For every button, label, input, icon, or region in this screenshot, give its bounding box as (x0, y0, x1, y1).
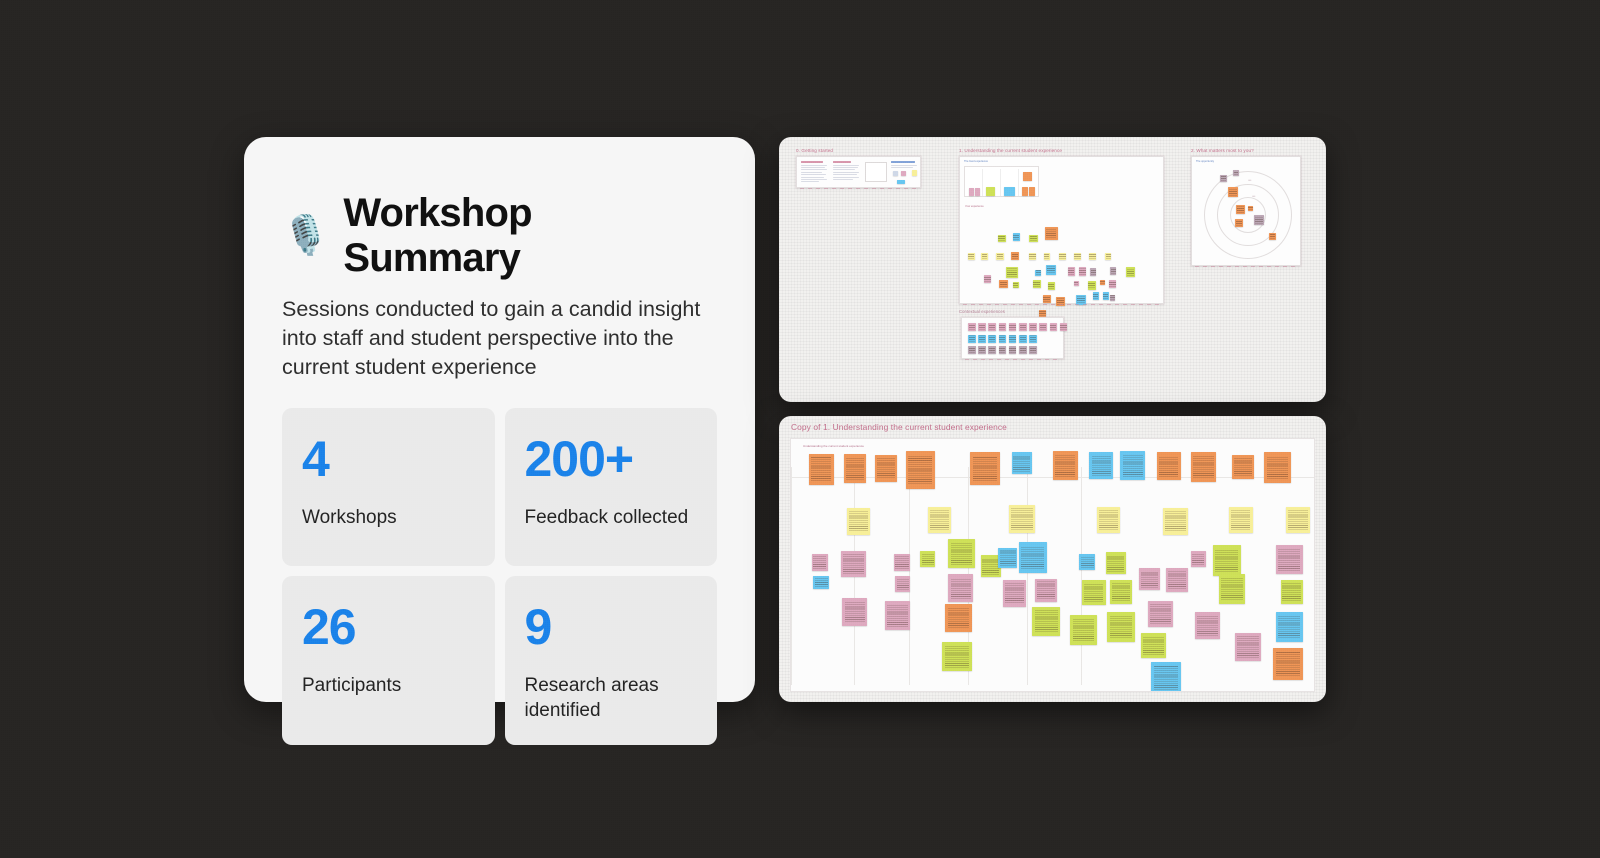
sticky-note-text (1089, 254, 1095, 259)
sticky-note[interactable] (998, 548, 1017, 569)
radar-label-1: •••• (1248, 179, 1251, 182)
contextual-note[interactable] (1029, 323, 1037, 331)
sticky-note-text (1106, 254, 1111, 259)
sticky-note-text (815, 577, 828, 587)
sticky-note[interactable] (1059, 253, 1067, 259)
sticky-note[interactable] (813, 576, 829, 589)
contextual-note[interactable] (978, 335, 986, 343)
sticky-note[interactable] (1273, 648, 1302, 680)
contextual-note[interactable] (1019, 346, 1027, 354)
sticky-note-text (973, 456, 997, 481)
sticky-note-text (1047, 266, 1055, 274)
sticky-note[interactable] (1233, 170, 1239, 176)
sticky-note[interactable] (1070, 615, 1096, 644)
contextual-note[interactable] (1009, 335, 1017, 343)
contextual-note[interactable] (1009, 346, 1017, 354)
board-detail-title: Copy of 1. Understanding the current stu… (791, 422, 1007, 432)
contextual-note[interactable] (988, 346, 996, 354)
radar-label-2: •••• (1252, 195, 1255, 198)
gs-column-1 (801, 161, 829, 184)
sticky-note[interactable] (996, 253, 1004, 259)
gs-column-2 (833, 161, 861, 181)
sticky-note[interactable] (1033, 280, 1042, 289)
sticky-note-text (930, 510, 949, 530)
sticky-note[interactable] (968, 253, 976, 259)
sticky-note-text (1011, 508, 1033, 529)
sticky-note[interactable] (1035, 270, 1041, 276)
sticky-note-text (1074, 281, 1078, 285)
sticky-note-text (997, 254, 1003, 259)
frame-what-matters-most[interactable]: The opportunity •••• •••• (1191, 156, 1301, 266)
sticky-note[interactable] (1110, 580, 1132, 604)
sticky-note-text (998, 235, 1005, 241)
sticky-note-text (895, 556, 908, 569)
sticky-note-text (1154, 666, 1178, 689)
stat-value: 200+ (525, 434, 698, 484)
sticky-note[interactable] (1093, 292, 1099, 300)
contextual-note[interactable] (968, 335, 976, 343)
sticky-note-text (1000, 281, 1007, 288)
sticky-note[interactable] (1003, 580, 1027, 606)
contextual-note-text (1060, 324, 1066, 330)
title-row: 🎙️ Workshop Summary (282, 191, 717, 281)
sticky-note-text (1048, 283, 1054, 289)
stat-card-participants: 26 Participants (282, 576, 495, 745)
board-detail-canvas[interactable]: Understanding the current student experi… (790, 438, 1315, 692)
sticky-note[interactable] (1235, 219, 1243, 227)
contextual-note[interactable] (1050, 323, 1058, 331)
sticky-note[interactable] (875, 455, 897, 481)
sticky-note[interactable] (945, 604, 971, 632)
sticky-note[interactable] (809, 454, 834, 485)
sticky-note[interactable] (1110, 295, 1115, 301)
inner-label-lived-experience: The lived experience (964, 160, 988, 163)
sticky-note[interactable] (1269, 233, 1276, 240)
sticky-note[interactable] (1082, 580, 1106, 605)
contextual-note-text (979, 324, 985, 330)
stat-label: Participants (302, 674, 475, 699)
sticky-note-text (1100, 280, 1104, 284)
sticky-note[interactable] (1044, 253, 1050, 259)
sticky-note[interactable] (1079, 554, 1095, 570)
contextual-note[interactable] (1029, 346, 1037, 354)
sticky-note[interactable] (1013, 282, 1019, 288)
sticky-note[interactable] (1248, 206, 1253, 211)
sticky-note-text (1043, 296, 1050, 303)
contextual-note-text (969, 335, 975, 341)
contextual-note-text (999, 324, 1005, 330)
frame-understanding-experience[interactable]: The lived experience Your experience (959, 156, 1164, 304)
sticky-note[interactable] (1032, 607, 1060, 636)
sticky-note[interactable] (1089, 452, 1113, 478)
stat-card-workshops: 4 Workshops (282, 408, 495, 566)
sticky-note[interactable] (1281, 580, 1303, 604)
contextual-note-text (1030, 347, 1036, 353)
sticky-note-text (1234, 171, 1239, 176)
sticky-note-text (1074, 254, 1080, 259)
contextual-note[interactable] (968, 346, 976, 354)
contextual-note[interactable] (988, 323, 996, 331)
sticky-note[interactable] (1139, 568, 1160, 590)
sticky-note-text (1112, 583, 1130, 601)
sticky-note[interactable] (1229, 507, 1253, 533)
sticky-note[interactable] (1110, 267, 1116, 275)
contextual-note[interactable] (1060, 323, 1068, 331)
sticky-note[interactable] (1126, 267, 1135, 277)
sticky-note[interactable] (1006, 267, 1017, 278)
sticky-note-text (1073, 619, 1095, 641)
sticky-note[interactable] (1103, 292, 1109, 300)
sticky-note-text (1099, 510, 1118, 530)
stat-label: Research areas identified (525, 674, 698, 723)
sticky-note-text (1229, 188, 1237, 196)
sticky-note-text (877, 458, 895, 478)
sticky-note-text (1111, 268, 1116, 274)
sticky-note-text (1276, 652, 1300, 677)
sticky-note-text (1150, 604, 1171, 624)
sticky-note[interactable] (1079, 267, 1087, 276)
sticky-note[interactable] (1107, 612, 1135, 641)
sticky-note-text (1141, 571, 1158, 588)
sticky-note-text (1033, 281, 1040, 288)
sticky-note-text (1267, 456, 1289, 479)
contextual-note-text (979, 347, 985, 353)
sticky-note-text (1221, 578, 1243, 600)
sticky-note-text (1007, 268, 1016, 277)
sticky-note-text (1079, 268, 1085, 275)
sticky-note[interactable] (1012, 452, 1033, 474)
sticky-note-text (845, 601, 866, 622)
gs-note (893, 171, 898, 176)
sticky-note[interactable] (1039, 310, 1047, 318)
sticky-note[interactable] (1013, 233, 1021, 241)
sticky-note[interactable] (1074, 253, 1082, 259)
sticky-note-text (1005, 583, 1024, 603)
sticky-note[interactable] (1076, 295, 1086, 305)
sticky-note[interactable] (1056, 297, 1065, 306)
frame-title-contextual: Contextual experiences (959, 309, 1005, 314)
stat-value: 9 (525, 602, 698, 652)
sticky-note-text (1278, 548, 1300, 570)
sticky-note-text (1088, 282, 1095, 289)
sticky-note[interactable] (1220, 175, 1227, 182)
sticky-note[interactable] (1089, 253, 1097, 259)
contextual-note[interactable] (1019, 323, 1027, 331)
sticky-note[interactable] (1166, 568, 1188, 592)
contextual-note-text (969, 347, 975, 353)
contextual-note-text (989, 335, 995, 341)
stats-grid: 4 Workshops 200+ Feedback collected 26 P… (282, 408, 717, 745)
contextual-note-text (999, 347, 1005, 353)
gs-sketch-area (865, 162, 887, 182)
sticky-note-text (951, 578, 972, 599)
board-column-divider (1081, 467, 1082, 685)
sticky-note[interactable] (1195, 612, 1220, 638)
sticky-note[interactable] (998, 235, 1007, 243)
contextual-note-text (999, 335, 1005, 341)
sticky-note-text (1123, 454, 1144, 476)
sticky-note[interactable] (1019, 542, 1047, 573)
sticky-note[interactable] (981, 253, 987, 259)
gs-note (912, 170, 917, 176)
sticky-note[interactable] (1151, 662, 1180, 692)
inner-label-opportunity: The opportunity (1196, 160, 1214, 163)
contextual-note-text (1009, 324, 1015, 330)
sticky-note[interactable] (906, 451, 935, 489)
sticky-note[interactable] (885, 601, 910, 630)
sticky-note[interactable] (1276, 612, 1302, 641)
sticky-note[interactable] (1088, 281, 1097, 290)
contextual-note-text (989, 347, 995, 353)
board-column-divider (791, 467, 792, 685)
sticky-note-text (1270, 234, 1276, 239)
summary-subtitle: Sessions conducted to gain a candid insi… (282, 295, 712, 382)
sticky-note[interactable] (1045, 227, 1058, 240)
sticky-note-text (1236, 220, 1243, 226)
sticky-note-text (811, 457, 832, 480)
sticky-note[interactable] (1163, 508, 1188, 534)
sticky-note-text (1107, 555, 1124, 572)
sticky-note-text (1248, 207, 1252, 211)
sticky-note-text (1237, 636, 1259, 657)
sticky-note[interactable] (1254, 215, 1264, 225)
contextual-note[interactable] (999, 335, 1007, 343)
sticky-note-text (1013, 283, 1018, 288)
sticky-note[interactable] (1219, 574, 1245, 603)
sticky-note[interactable] (1035, 579, 1057, 603)
sticky-note-text (908, 455, 932, 484)
sticky-note[interactable] (841, 551, 866, 577)
sticky-note[interactable] (1236, 205, 1245, 214)
sticky-note[interactable] (1074, 281, 1079, 286)
sticky-note-text (1084, 583, 1103, 602)
sticky-note-text (849, 511, 868, 531)
sticky-note[interactable] (1141, 633, 1166, 658)
contextual-note[interactable] (1029, 335, 1037, 343)
board-column-divider (1027, 467, 1028, 685)
sticky-note[interactable] (1228, 187, 1238, 197)
contextual-note-text (1020, 324, 1026, 330)
sticky-note[interactable] (984, 275, 992, 284)
sticky-note-text (1103, 293, 1108, 299)
gs-column-3 (891, 161, 919, 169)
gs-note (901, 171, 906, 176)
sticky-note[interactable] (1100, 280, 1105, 285)
sticky-note-text (1237, 206, 1244, 213)
sticky-note-text (1221, 176, 1227, 181)
sticky-note-text (1282, 583, 1300, 601)
sticky-note[interactable] (1105, 253, 1111, 259)
sticky-note-text (1044, 254, 1049, 259)
sticky-note[interactable] (1276, 545, 1302, 574)
sticky-note-text (1036, 270, 1041, 275)
sticky-note[interactable] (1264, 452, 1290, 483)
contextual-note-text (1050, 324, 1056, 330)
sticky-note[interactable] (847, 508, 871, 534)
legend-card (964, 166, 1039, 197)
sticky-note-text (1143, 636, 1164, 655)
sticky-note-text (1013, 455, 1030, 472)
sticky-note[interactable] (1043, 295, 1052, 304)
sticky-note[interactable] (1120, 451, 1145, 480)
board-detail-header: Copy of 1. Understanding the current stu… (779, 416, 1326, 438)
sticky-note[interactable] (1090, 268, 1096, 276)
gs-note (897, 180, 905, 184)
sticky-note-text (951, 542, 973, 564)
stat-value: 4 (302, 434, 475, 484)
stat-label: Workshops (302, 506, 475, 531)
sticky-note-text (968, 254, 974, 259)
sticky-note-text (1000, 550, 1016, 566)
workshop-summary-card: 🎙️ Workshop Summary Sessions conducted t… (244, 137, 755, 702)
frame-getting-started[interactable] (796, 156, 921, 188)
sticky-note[interactable] (1109, 280, 1117, 289)
sticky-note-text (1012, 253, 1018, 259)
contextual-note[interactable] (978, 346, 986, 354)
sticky-note[interactable] (844, 454, 866, 483)
sticky-note-text (1255, 216, 1263, 224)
contextual-note-text (989, 324, 995, 330)
contextual-note-text (1009, 347, 1015, 353)
contextual-note[interactable] (1019, 335, 1027, 343)
sticky-note-text (1093, 293, 1098, 299)
sticky-note[interactable] (894, 554, 910, 572)
sticky-note-text (1077, 296, 1085, 304)
sticky-note-text (1013, 234, 1019, 240)
sticky-note[interactable] (812, 554, 828, 572)
sticky-note[interactable] (1213, 545, 1241, 576)
sticky-note-text (1159, 456, 1178, 477)
sticky-note[interactable] (1106, 552, 1127, 574)
sticky-note[interactable] (970, 452, 999, 484)
sticky-note-text (1055, 454, 1076, 476)
sticky-note-text (813, 556, 826, 569)
sticky-note[interactable] (920, 551, 935, 567)
sticky-note-text (948, 607, 970, 628)
board-detail-top-label: Understanding the current student experi… (803, 444, 864, 448)
frame-title-what-matters: 2. What matters most to you? (1191, 148, 1254, 153)
sticky-note-text (1057, 298, 1064, 305)
contextual-note-text (1020, 347, 1026, 353)
contextual-note[interactable] (968, 323, 976, 331)
frame-title-understanding: 1. Understanding the current student exp… (959, 148, 1062, 153)
frame-title-getting-started: 0. Getting started (796, 148, 833, 153)
sticky-note[interactable] (1029, 235, 1038, 243)
sticky-note-text (1110, 295, 1114, 300)
sticky-note-text (1234, 458, 1252, 476)
sticky-note-text (846, 457, 864, 479)
sticky-note-text (1029, 254, 1035, 259)
contextual-note[interactable] (1009, 323, 1017, 331)
sticky-note[interactable] (942, 642, 971, 671)
sticky-note-text (1039, 310, 1045, 316)
contextual-note-text (979, 335, 985, 341)
sticky-note-text (897, 578, 909, 590)
sticky-note-text (887, 604, 908, 626)
sticky-note-text (1059, 254, 1065, 259)
sticky-note[interactable] (1097, 507, 1121, 533)
inner-label-your-experience: Your experience (965, 205, 984, 208)
sticky-note[interactable] (1046, 265, 1056, 275)
stat-card-feedback: 200+ Feedback collected (505, 408, 718, 566)
sticky-note[interactable] (948, 539, 974, 568)
sticky-note-text (1215, 549, 1238, 572)
stat-card-research-areas: 9 Research areas identified (505, 576, 718, 745)
sticky-note[interactable] (895, 576, 910, 592)
sticky-note-text (922, 553, 934, 565)
sticky-note-text (1193, 456, 1214, 478)
sticky-note-text (1068, 268, 1074, 275)
sticky-note-text (1168, 571, 1186, 589)
sticky-note-text (1109, 281, 1115, 288)
stat-value: 26 (302, 602, 475, 652)
contextual-note-text (969, 324, 975, 330)
sticky-note[interactable] (842, 598, 867, 626)
sticky-note-text (1278, 616, 1300, 638)
sticky-note-text (1197, 616, 1218, 636)
sticky-note-text (1030, 235, 1037, 241)
page-title: Workshop Summary (343, 191, 717, 281)
sticky-note-text (1288, 510, 1307, 530)
sticky-note-text (1127, 268, 1134, 276)
sticky-note-text (1037, 581, 1055, 599)
sticky-note[interactable] (1029, 253, 1037, 259)
sticky-note-text (984, 276, 990, 283)
sticky-note-text (1165, 511, 1186, 531)
sticky-note-text (1110, 616, 1133, 638)
sticky-note-text (1046, 229, 1056, 239)
frame-contextual-experiences[interactable] (961, 317, 1064, 359)
sticky-note[interactable] (1009, 505, 1035, 533)
contextual-note[interactable] (999, 346, 1007, 354)
sticky-note-text (1035, 610, 1058, 632)
sticky-note-text (1081, 556, 1094, 568)
contextual-note-text (1020, 335, 1026, 341)
sticky-note-text (1231, 510, 1250, 530)
sticky-note[interactable] (1191, 452, 1216, 481)
sticky-note[interactable] (1053, 451, 1078, 480)
sticky-note[interactable] (928, 507, 952, 533)
contextual-note-text (1030, 324, 1036, 330)
studio-microphone-icon: 🎙️ (282, 217, 329, 255)
sticky-note-text (982, 558, 999, 575)
contextual-note[interactable] (988, 335, 996, 343)
sticky-note[interactable] (1191, 551, 1206, 567)
sticky-note[interactable] (1235, 633, 1261, 661)
workshop-board-detail[interactable]: Copy of 1. Understanding the current stu… (779, 416, 1326, 702)
contextual-note[interactable] (978, 323, 986, 331)
sticky-note[interactable] (999, 280, 1008, 289)
sticky-note[interactable] (1148, 601, 1173, 627)
sticky-note-text (1092, 455, 1111, 475)
sticky-note[interactable] (948, 574, 973, 602)
contextual-note[interactable] (1039, 323, 1047, 331)
contextual-note[interactable] (999, 323, 1007, 331)
sticky-note[interactable] (1157, 452, 1181, 480)
sticky-note-text (1091, 269, 1096, 275)
sticky-note-text (843, 554, 864, 574)
sticky-note[interactable] (1232, 455, 1254, 479)
sticky-note-text (945, 645, 969, 667)
sticky-note[interactable] (1068, 267, 1076, 276)
sticky-note[interactable] (1011, 252, 1019, 260)
workshop-board-overview[interactable]: 0. Getting started 1. Understanding the … (779, 137, 1326, 402)
sticky-note[interactable] (1286, 507, 1310, 533)
sticky-note-text (1021, 546, 1044, 569)
sticky-note-text (982, 254, 987, 259)
sticky-note[interactable] (1048, 282, 1056, 290)
contextual-note-text (1009, 335, 1015, 341)
